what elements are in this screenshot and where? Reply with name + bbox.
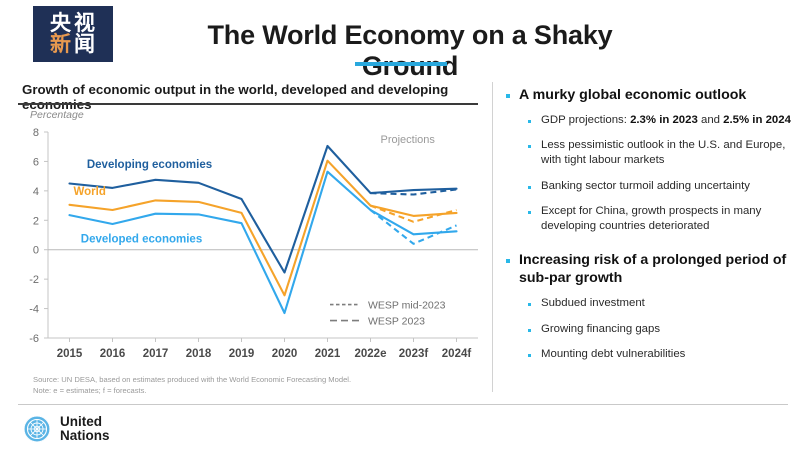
key-point-item-text: Except for China, growth prospects in ma… bbox=[541, 204, 796, 234]
logo-line-1: 央 视 bbox=[50, 13, 96, 34]
svg-text:2016: 2016 bbox=[100, 348, 126, 360]
chart-heading-rule bbox=[18, 103, 478, 105]
svg-text:-2: -2 bbox=[29, 274, 39, 286]
un-line-2: Nations bbox=[60, 429, 110, 443]
key-point-heading-text: A murky global economic outlook bbox=[519, 86, 746, 104]
chart-source-note: Source: UN DESA, based on estimates prod… bbox=[33, 374, 351, 396]
chart-heading: Growth of economic output in the world, … bbox=[22, 82, 492, 112]
sub-bullet-square-icon bbox=[528, 120, 531, 123]
svg-text:6: 6 bbox=[33, 156, 39, 168]
svg-text:Projections: Projections bbox=[381, 134, 436, 146]
svg-text:2: 2 bbox=[33, 215, 39, 227]
key-point-item: Except for China, growth prospects in ma… bbox=[528, 204, 796, 234]
key-points-panel: A murky global economic outlookGDP proje… bbox=[506, 86, 796, 372]
svg-text:-4: -4 bbox=[29, 304, 39, 316]
source-line-2: Note: e = estimates; f = forecasts. bbox=[33, 385, 351, 396]
sub-bullet-square-icon bbox=[528, 354, 531, 357]
svg-text:2021: 2021 bbox=[315, 348, 341, 360]
cctv-news-logo: 央 视 新 闻 bbox=[33, 6, 113, 62]
svg-text:WESP 2023: WESP 2023 bbox=[368, 316, 425, 328]
slide-canvas: 央 视 新 闻 The World Economy on a Shaky Gro… bbox=[0, 0, 800, 450]
source-line-1: Source: UN DESA, based on estimates prod… bbox=[33, 374, 351, 385]
bullet-square-icon bbox=[506, 94, 510, 98]
bullet-square-icon bbox=[506, 259, 510, 263]
svg-text:2017: 2017 bbox=[143, 348, 169, 360]
svg-text:2019: 2019 bbox=[229, 348, 255, 360]
footer-divider bbox=[18, 404, 788, 405]
svg-text:2020: 2020 bbox=[272, 348, 298, 360]
chart-panel: Growth of economic output in the world, … bbox=[0, 78, 492, 403]
svg-text:8: 8 bbox=[33, 127, 39, 139]
key-point-group: A murky global economic outlookGDP proje… bbox=[506, 86, 796, 234]
key-point-item: Mounting debt vulnerabilities bbox=[528, 347, 796, 362]
key-point-item: Banking sector turmoil adding uncertaint… bbox=[528, 179, 796, 194]
logo-char-3: 新 bbox=[50, 34, 72, 55]
svg-text:2024f: 2024f bbox=[442, 348, 472, 360]
key-point-item-text: Banking sector turmoil adding uncertaint… bbox=[541, 179, 750, 194]
logo-char-1: 央 bbox=[50, 13, 72, 34]
key-point-item-text: Less pessimistic outlook in the U.S. and… bbox=[541, 138, 796, 168]
svg-text:2022e: 2022e bbox=[355, 348, 387, 360]
svg-text:2015: 2015 bbox=[57, 348, 83, 360]
title-accent-underline bbox=[355, 62, 447, 66]
svg-text:2018: 2018 bbox=[186, 348, 212, 360]
logo-char-2: 视 bbox=[74, 13, 96, 34]
key-point-item: Growing financing gaps bbox=[528, 322, 796, 337]
svg-text:Developing economies: Developing economies bbox=[87, 159, 212, 171]
svg-text:2023f: 2023f bbox=[399, 348, 429, 360]
svg-text:WESP mid-2023: WESP mid-2023 bbox=[368, 300, 446, 312]
un-line-1: United bbox=[60, 415, 110, 429]
key-point-item: Less pessimistic outlook in the U.S. and… bbox=[528, 138, 796, 168]
un-emblem-icon bbox=[22, 414, 52, 444]
key-point-heading-text: Increasing risk of a prolonged period of… bbox=[519, 251, 796, 287]
svg-text:4: 4 bbox=[33, 186, 39, 198]
page-title: The World Economy on a Shaky Ground bbox=[175, 20, 645, 82]
un-wordmark: United Nations bbox=[60, 415, 110, 443]
key-point-item-text: Mounting debt vulnerabilities bbox=[541, 347, 685, 362]
sub-bullet-square-icon bbox=[528, 145, 531, 148]
y-axis-unit-label: Percentage bbox=[30, 109, 84, 121]
svg-text:World: World bbox=[74, 186, 106, 198]
key-point-item-text: Subdued investment bbox=[541, 296, 645, 311]
united-nations-logo: United Nations bbox=[22, 414, 110, 444]
svg-text:0: 0 bbox=[33, 245, 39, 257]
key-point-heading: A murky global economic outlook bbox=[506, 86, 796, 104]
line-chart: 86420-2-4-620152016201720182019202020212… bbox=[0, 124, 492, 376]
key-point-item: Subdued investment bbox=[528, 296, 796, 311]
sub-bullet-square-icon bbox=[528, 329, 531, 332]
sub-bullet-square-icon bbox=[528, 186, 531, 189]
key-point-item: GDP projections: 2.3% in 2023 and 2.5% i… bbox=[528, 113, 796, 128]
logo-char-4: 闻 bbox=[74, 34, 96, 55]
sub-bullet-square-icon bbox=[528, 211, 531, 214]
key-point-group: Increasing risk of a prolonged period of… bbox=[506, 251, 796, 362]
key-point-item-text: GDP projections: 2.3% in 2023 and 2.5% i… bbox=[541, 113, 791, 128]
key-point-item-text: Growing financing gaps bbox=[541, 322, 660, 337]
key-point-heading: Increasing risk of a prolonged period of… bbox=[506, 251, 796, 287]
sub-bullet-square-icon bbox=[528, 303, 531, 306]
svg-text:-6: -6 bbox=[29, 333, 39, 345]
panel-divider bbox=[492, 82, 493, 392]
svg-text:Developed economies: Developed economies bbox=[81, 233, 202, 245]
logo-line-2: 新 闻 bbox=[50, 34, 96, 55]
